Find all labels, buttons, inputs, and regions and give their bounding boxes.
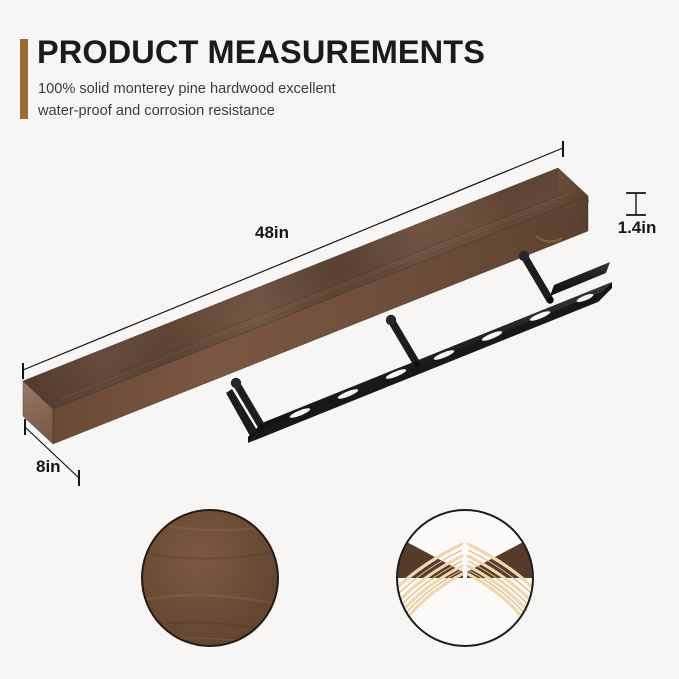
detail-circle-miter-joint <box>360 510 570 648</box>
shelf-board <box>23 168 589 444</box>
board-top-grain <box>23 168 588 409</box>
dimension-length-label: 48in <box>255 223 289 242</box>
product-measurements-infographic: PRODUCT MEASUREMENTS 100% solid monterey… <box>0 0 679 679</box>
dimension-thickness <box>626 193 646 215</box>
dimension-thickness-label: 1.4in <box>618 218 657 237</box>
bracket-arm <box>386 315 420 367</box>
bracket-arm <box>519 251 553 303</box>
product-illustration: 48in 1.4in 8in <box>0 0 679 679</box>
board-grain-lines <box>60 193 570 399</box>
dimension-depth-label: 8in <box>36 457 61 476</box>
detail-circle-wood-grain <box>138 510 284 646</box>
